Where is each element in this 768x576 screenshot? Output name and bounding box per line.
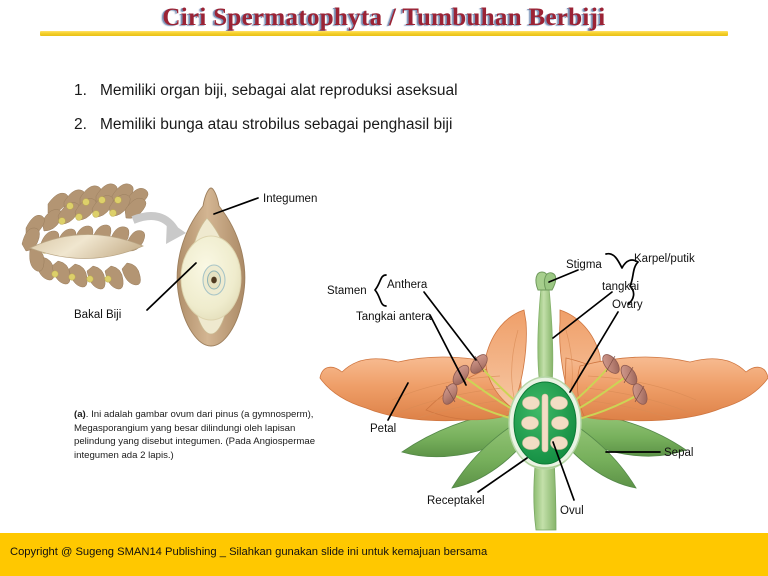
botany-illustration: Integumen Bakal Biji bbox=[0, 170, 768, 530]
label-receptakel: Receptakel bbox=[427, 495, 485, 507]
footer-bar: Copyright @ Sugeng SMAN14 Publishing _ S… bbox=[0, 533, 768, 576]
label-stigma: Stigma bbox=[566, 259, 602, 271]
slide-canvas: Ciri Spermatophyta / Tumbuhan Berbiji 1.… bbox=[0, 0, 768, 576]
page-title: Ciri Spermatophyta / Tumbuhan Berbiji bbox=[162, 4, 605, 32]
footer-copyright-text: Copyright @ Sugeng SMAN14 Publishing _ S… bbox=[10, 546, 487, 558]
list-item: 1. Memiliki organ biji, sebagai alat rep… bbox=[74, 82, 694, 101]
list-item-number: 1. bbox=[74, 82, 100, 101]
label-ovul: Ovul bbox=[560, 505, 584, 517]
label-tangkai-antera: Tangkai antera bbox=[356, 311, 432, 323]
label-anthera: Anthera bbox=[387, 279, 428, 291]
label-petal: Petal bbox=[370, 423, 396, 435]
label-integumen: Integumen bbox=[263, 193, 317, 205]
label-sepal: Sepal bbox=[664, 447, 693, 459]
ovule-cross-section bbox=[177, 188, 245, 346]
leader-anthera bbox=[424, 292, 476, 360]
label-stamen: Stamen bbox=[327, 285, 367, 297]
label-ovary: Ovary bbox=[612, 299, 643, 311]
label-karpel: Karpel/putik bbox=[634, 253, 695, 265]
nucleus-core bbox=[211, 277, 217, 284]
label-bakal-biji: Bakal Biji bbox=[74, 309, 121, 321]
slide-header: Ciri Spermatophyta / Tumbuhan Berbiji bbox=[0, 4, 768, 34]
list-item-number: 2. bbox=[74, 116, 100, 135]
leader-integumen bbox=[214, 198, 258, 214]
list-item-text: Memiliki bunga atau strobilus sebagai pe… bbox=[100, 116, 694, 135]
caption-text: . Ini adalah gambar ovum dari pinus (a g… bbox=[74, 409, 315, 461]
title-underline-rule bbox=[40, 31, 728, 36]
label-tangkai: tangkai bbox=[602, 281, 639, 293]
placenta bbox=[542, 394, 548, 452]
stamen-brace-shape bbox=[375, 275, 386, 306]
caption-marker: (a) bbox=[74, 409, 86, 420]
bullet-list: 1. Memiliki organ biji, sebagai alat rep… bbox=[74, 82, 694, 149]
style-tangkai bbox=[538, 288, 553, 386]
list-item-text: Memiliki organ biji, sebagai alat reprod… bbox=[100, 82, 694, 101]
pine-cone-illustration bbox=[22, 184, 148, 289]
list-item: 2. Memiliki bunga atau strobilus sebagai… bbox=[74, 116, 694, 135]
figure-caption: (a). Ini adalah gambar ovum dari pinus (… bbox=[74, 408, 329, 462]
figure-area: Integumen Bakal Biji bbox=[0, 170, 768, 530]
